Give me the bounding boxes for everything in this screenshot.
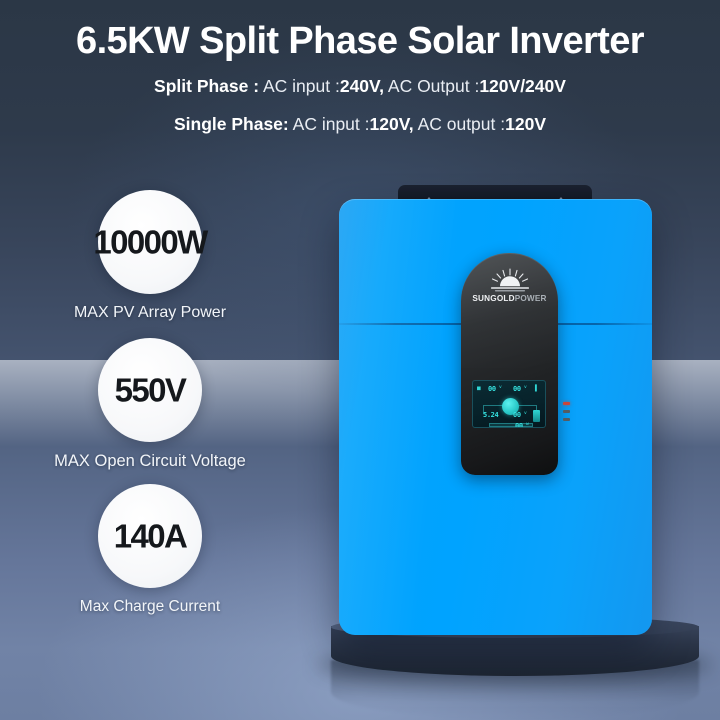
sunrise-rays-icon <box>487 267 533 293</box>
spec-seg2-split: AC Output : <box>388 76 479 96</box>
brand-primary: SUNGOLD <box>472 294 514 303</box>
feature-caption: MAX Open Circuit Voltage <box>0 453 300 470</box>
feature-value: 140A <box>114 520 187 553</box>
lcd-unit-watt: w <box>526 423 529 428</box>
lcd-unit-pv-volt: v <box>499 386 502 391</box>
feature-value: 10000W <box>93 226 206 259</box>
status-led-fault <box>563 402 570 405</box>
lcd-screen[interactable]: ■ 00 v 00 v ▌ 5.24 00 v 00 w <box>472 380 546 428</box>
faceplate-panel: SUNGOLDPOWER ■ 00 v 00 v ▌ 5.24 00 v 0 <box>461 253 558 475</box>
lcd-grid-icon: ▌ <box>535 386 539 392</box>
lcd-readout-pv-volt: 00 <box>488 386 496 393</box>
spec-val1-split: 240V, <box>340 76 384 96</box>
feature-value: 550V <box>115 374 186 407</box>
feature-badge-pv-power: 10000W MAX PV Array Power <box>0 190 300 321</box>
lcd-pv-icon: ■ <box>477 386 481 392</box>
product-banner: 6.5KW Split Phase Solar Inverter Split P… <box>0 0 720 720</box>
lcd-readout-current: 5.24 <box>483 412 498 419</box>
status-led-ac <box>563 418 570 421</box>
status-led-charge <box>563 410 570 413</box>
brand-secondary: POWER <box>515 294 547 303</box>
spec-val2-single: 120V <box>505 114 546 134</box>
lcd-readout-ac-volt: 00 <box>513 386 521 393</box>
lcd-unit-out: v <box>524 412 527 417</box>
lcd-readout-out: 00 <box>513 412 521 419</box>
spec-val1-single: 120V, <box>370 114 414 134</box>
feature-disc: 140A <box>98 484 202 588</box>
feature-disc: 550V <box>98 338 202 442</box>
lcd-unit-ac-volt: v <box>524 386 527 391</box>
lcd-battery-icon <box>533 410 540 422</box>
lcd-content: ■ 00 v 00 v ▌ 5.24 00 v 00 w <box>475 383 543 425</box>
feature-badge-open-circuit-voltage: 550V MAX Open Circuit Voltage <box>0 338 300 470</box>
spec-line-single-phase: Single Phase: AC input :120V, AC output … <box>0 96 720 134</box>
spec-val2-split: 120V/240V <box>479 76 566 96</box>
brand-logo: SUNGOLDPOWER <box>461 267 558 303</box>
page-title: 6.5KW Split Phase Solar Inverter <box>0 0 720 60</box>
feature-caption: Max Charge Current <box>0 599 300 615</box>
spec-seg1-split: AC input : <box>263 76 340 96</box>
spec-label-split: Split Phase : <box>154 76 259 96</box>
led-indicator-group <box>563 402 570 426</box>
spec-seg2-single: AC output : <box>418 114 506 134</box>
feature-caption: MAX PV Array Power <box>0 305 300 321</box>
spec-line-split-phase: Split Phase : AC input :240V, AC Output … <box>0 60 720 96</box>
brand-wordmark: SUNGOLDPOWER <box>461 295 558 303</box>
header: 6.5KW Split Phase Solar Inverter Split P… <box>0 0 720 133</box>
lcd-readout-watt: 00 <box>515 423 523 428</box>
feature-badge-charge-current: 140A Max Charge Current <box>0 484 300 615</box>
feature-disc: 10000W <box>98 190 202 294</box>
spec-seg1-single: AC input : <box>293 114 370 134</box>
spec-label-single: Single Phase: <box>174 114 289 134</box>
